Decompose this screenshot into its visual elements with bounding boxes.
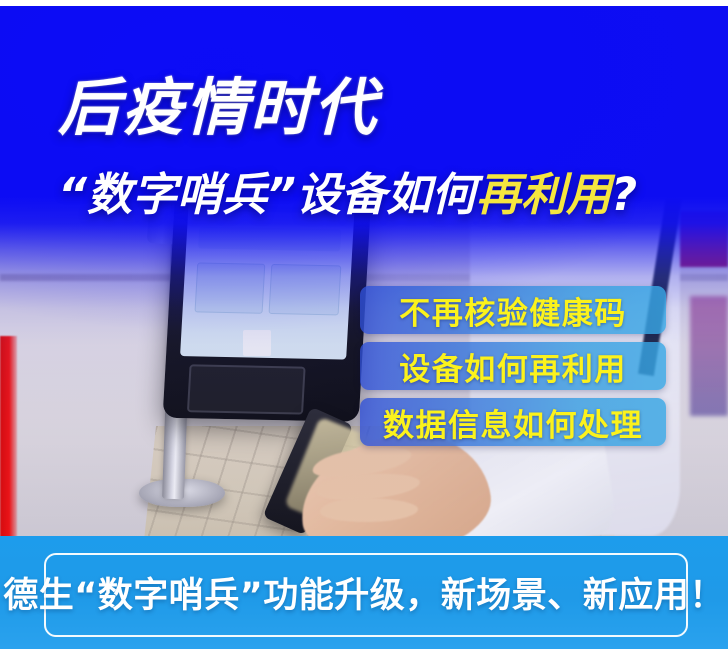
subtitle-prefix: “数字哨兵”设备如何 <box>58 168 476 221</box>
topic-pill-list: 不再核验健康码 设备如何再利用 数据信息如何处理 <box>360 286 666 454</box>
page-title: 后疫情时代 <box>58 76 378 139</box>
topic-pill-2-label: 设备如何再利用 <box>399 344 627 389</box>
subtitle-suffix: ? <box>611 168 637 221</box>
topic-pill-3[interactable]: 数据信息如何处理 <box>360 398 666 446</box>
poster-image: 后疫情时代 “数字哨兵”设备如何再利用? 不再核验健康码 设备如何再利用 数据信… <box>0 0 728 649</box>
top-margin <box>0 0 728 6</box>
topic-pill-1-label: 不再核验健康码 <box>399 288 627 333</box>
topic-pill-1[interactable]: 不再核验健康码 <box>360 286 666 334</box>
topic-pill-3-label: 数据信息如何处理 <box>383 400 643 445</box>
subtitle-highlight: 再利用 <box>476 168 611 221</box>
topic-pill-2[interactable]: 设备如何再利用 <box>360 342 666 390</box>
banner-text: 德生“数字哨兵”功能升级，新场景、新应用！ <box>0 536 728 649</box>
subtitle: “数字哨兵”设备如何再利用? <box>58 170 637 220</box>
